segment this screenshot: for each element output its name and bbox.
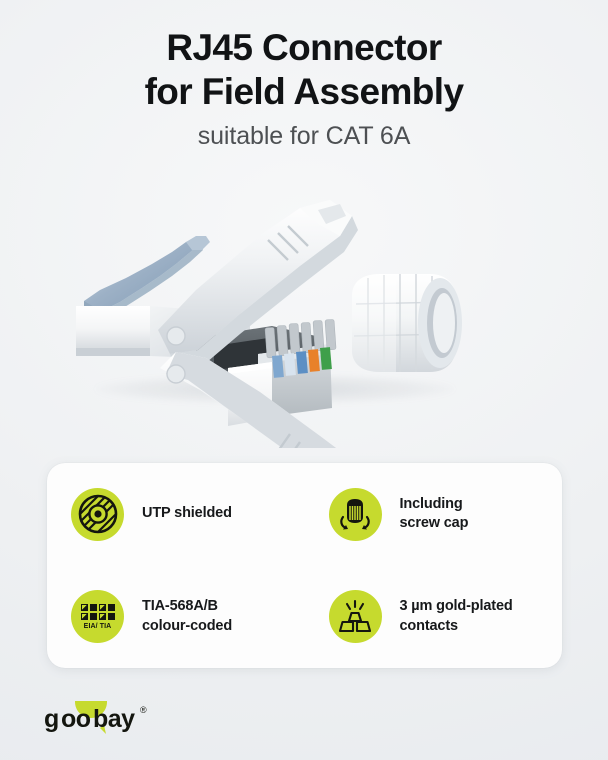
rj45-connector-illustration <box>0 178 608 448</box>
gold-bars-icon <box>329 590 382 643</box>
colour-code-grid <box>81 604 115 620</box>
product-marketing-page: RJ45 Connector for Field Assembly suitab… <box>0 0 608 760</box>
feature-label: Including screw cap <box>400 495 469 534</box>
feature-item-tia-colour-coded: EIA/ TIA TIA-568A/B colour-coded <box>47 566 305 669</box>
svg-text:®: ® <box>140 705 147 715</box>
page-subtitle: suitable for CAT 6A <box>0 122 608 151</box>
svg-text:oo: oo <box>61 705 91 733</box>
title-line-1: RJ45 Connector <box>166 27 441 68</box>
svg-text:bay: bay <box>93 705 135 733</box>
feature-label: 3 µm gold-plated contacts <box>400 597 513 636</box>
screw-cap-rotation-icon <box>329 488 382 541</box>
feature-label: UTP shielded <box>142 504 232 524</box>
eia-tia-label: EIA/ TIA <box>84 623 112 630</box>
eia-tia-colour-code-icon: EIA/ TIA <box>71 590 124 643</box>
product-image <box>0 178 608 448</box>
pivot-upper <box>167 327 185 345</box>
feature-item-gold-plated: 3 µm gold-plated contacts <box>305 566 563 669</box>
feature-item-screw-cap: Including screw cap <box>305 463 563 566</box>
feature-item-utp-shielded: UTP shielded <box>47 463 305 566</box>
title-line-2: for Field Assembly <box>145 71 464 112</box>
header: RJ45 Connector for Field Assembly suitab… <box>0 26 608 151</box>
goobay-logo-mark: g oo bay ® <box>44 701 164 735</box>
svg-text:g: g <box>44 705 59 733</box>
pivot-lower <box>167 365 185 383</box>
goobay-logo: g oo bay ® <box>44 703 164 733</box>
screw-cap <box>352 274 462 372</box>
feature-card: UTP shielded <box>47 463 562 668</box>
feature-label: TIA-568A/B colour-coded <box>142 597 232 636</box>
shielded-cable-cross-section-icon <box>71 488 124 541</box>
page-title: RJ45 Connector for Field Assembly <box>0 26 608 113</box>
